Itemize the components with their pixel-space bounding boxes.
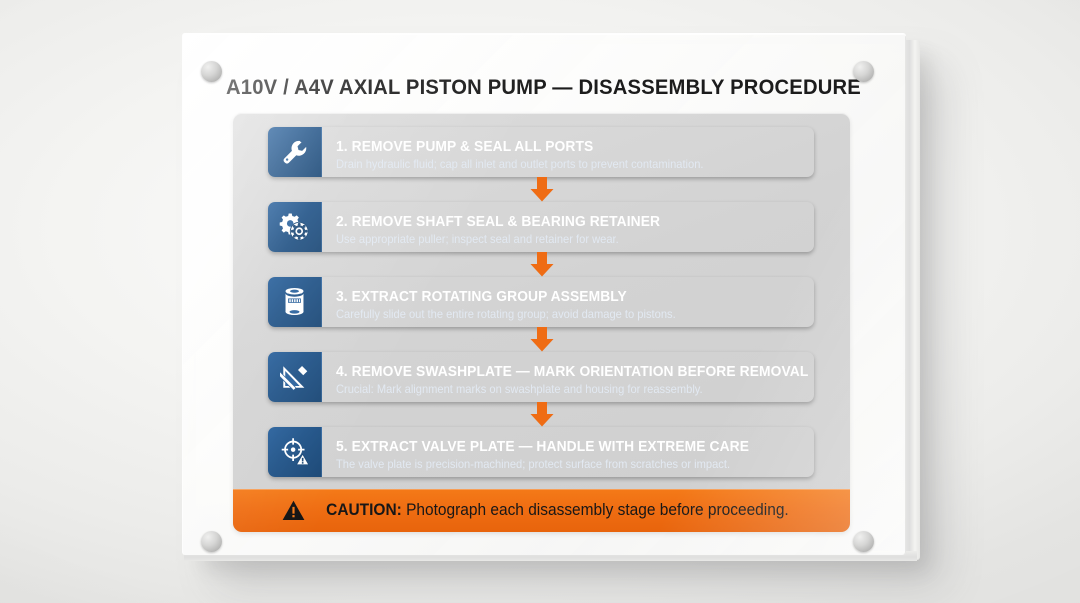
step-row-3[interactable]: 3. EXTRACT ROTATING GROUP ASSEMBLY Caref…: [268, 277, 814, 327]
step-title-4: 4. REMOVE SWASHPLATE — MARK ORIENTATION …: [336, 364, 783, 380]
caution-message: CAUTION: Photograph each disassembly sta…: [326, 501, 789, 520]
standoff-cap: [853, 531, 874, 552]
gear-bearing-icon: [268, 202, 322, 252]
step-text-2: 2. REMOVE SHAFT SEAL & BEARING RETAINER …: [322, 202, 814, 252]
step-desc-1: Drain hydraulic fluid; cap all inlet and…: [336, 158, 783, 172]
step-text-4: 4. REMOVE SWASHPLATE — MARK ORIENTATION …: [322, 352, 814, 402]
step-desc-5: The valve plate is precision-machined; p…: [336, 458, 783, 472]
step-title-1: 1. REMOVE PUMP & SEAL ALL PORTS: [336, 139, 783, 155]
standoff-screw-icon: [201, 61, 227, 83]
standoff-cap: [853, 61, 874, 82]
arrow-down-icon: [528, 252, 556, 277]
caution-bar: CAUTION: Photograph each disassembly sta…: [233, 489, 850, 532]
caution-label: CAUTION:: [326, 501, 402, 519]
warning-triangle-icon: [282, 500, 305, 521]
arrow-down-icon: [528, 402, 556, 427]
step-text-5: 5. EXTRACT VALVE PLATE — HANDLE WITH EXT…: [322, 427, 814, 477]
standoff-cap: [201, 531, 222, 552]
arrow-down-icon: [528, 327, 556, 352]
arrow-down-icon: [528, 177, 556, 202]
step-row-5[interactable]: 5. EXTRACT VALVE PLATE — HANDLE WITH EXT…: [268, 427, 814, 477]
step-title-3: 3. EXTRACT ROTATING GROUP ASSEMBLY: [336, 289, 783, 305]
step-row-1[interactable]: 1. REMOVE PUMP & SEAL ALL PORTS Drain hy…: [268, 127, 814, 177]
caution-body: Photograph each disassembly stage before…: [406, 501, 789, 519]
rotating-group-cylinder-icon: [268, 277, 322, 327]
step-title-2: 2. REMOVE SHAFT SEAL & BEARING RETAINER: [336, 214, 783, 230]
step-text-1: 1. REMOVE PUMP & SEAL ALL PORTS Drain hy…: [322, 127, 814, 177]
step-desc-2: Use appropriate puller; inspect seal and…: [336, 233, 783, 247]
procedure-card: 1. REMOVE PUMP & SEAL ALL PORTS Drain hy…: [233, 113, 850, 532]
swashplate-wedge-icon: [268, 352, 322, 402]
standoff-cap: [201, 61, 222, 82]
step-desc-3: Carefully slide out the entire rotating …: [336, 308, 783, 322]
standoff-screw-icon: [853, 61, 879, 83]
step-row-4[interactable]: 4. REMOVE SWASHPLATE — MARK ORIENTATION …: [268, 352, 814, 402]
standoff-screw-icon: [853, 531, 879, 553]
step-title-5: 5. EXTRACT VALVE PLATE — HANDLE WITH EXT…: [336, 439, 783, 455]
wrench-icon: [268, 127, 322, 177]
step-desc-4: Crucial: Mark alignment marks on swashpl…: [336, 383, 783, 397]
page-title: A10V / A4V AXIAL PISTON PUMP — DISASSEMB…: [204, 75, 884, 100]
background-wall: A10V / A4V AXIAL PISTON PUMP — DISASSEMB…: [0, 0, 1080, 603]
step-text-3: 3. EXTRACT ROTATING GROUP ASSEMBLY Caref…: [322, 277, 814, 327]
standoff-screw-icon: [201, 531, 227, 553]
step-row-2[interactable]: 2. REMOVE SHAFT SEAL & BEARING RETAINER …: [268, 202, 814, 252]
valve-plate-target-warning-icon: [268, 427, 322, 477]
